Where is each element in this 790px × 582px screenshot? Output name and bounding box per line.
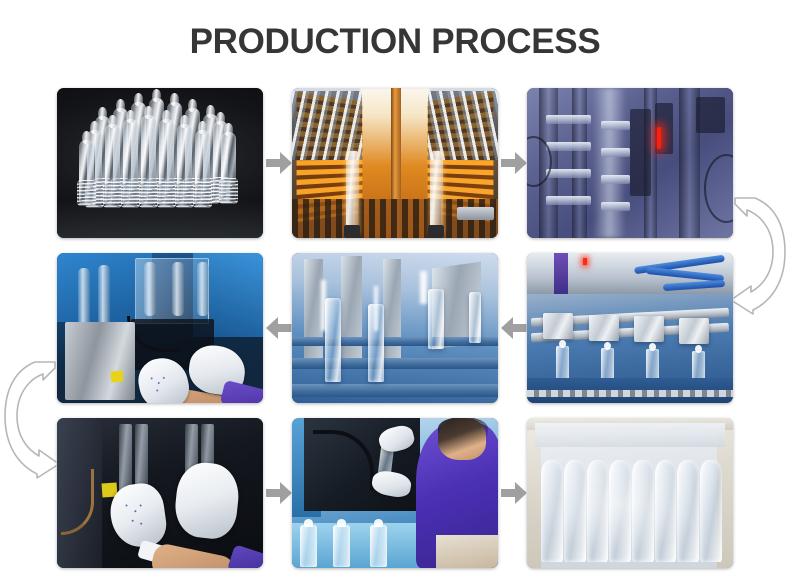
process-step-4[interactable] — [57, 253, 263, 403]
step-1-card[interactable] — [57, 88, 263, 238]
step-8-card[interactable] — [292, 418, 498, 568]
blow-molding-operator-photo — [57, 253, 263, 403]
conveyor-strip — [527, 390, 733, 397]
bottles-conveyor-photo — [292, 253, 498, 403]
red-status-led — [583, 258, 587, 265]
arrow-step5-to-step4 — [266, 317, 292, 339]
machine-arm — [457, 207, 494, 221]
pet-preforms-photo — [57, 88, 263, 238]
step-6-card[interactable] — [527, 253, 733, 403]
step-7-card[interactable] — [57, 418, 263, 568]
arrow-step1-to-step2 — [266, 152, 292, 174]
specular-sheen — [593, 88, 626, 238]
step-9-card[interactable] — [527, 418, 733, 568]
arrow-step2-to-step3 — [501, 152, 527, 174]
heated-preform-b — [430, 151, 443, 235]
arrow-step8-to-step9 — [501, 482, 527, 504]
operator-sleeve — [227, 544, 263, 568]
step-4-card[interactable] — [57, 253, 263, 403]
operator-glove-right — [173, 460, 242, 541]
preform-grip-b — [428, 225, 444, 238]
bottle-inspection-photo — [292, 418, 498, 568]
step-2-card[interactable] — [292, 88, 498, 238]
process-step-9[interactable] — [527, 418, 733, 568]
transfer-clamps-photo — [527, 253, 733, 403]
step-3-card[interactable] — [527, 88, 733, 238]
process-step-2[interactable] — [292, 88, 498, 238]
operator-sleeve — [220, 380, 263, 403]
production-process-infographic: PRODUCTION PROCESS — [0, 0, 790, 582]
warning-label — [110, 370, 123, 382]
infrared-heating-photo — [292, 88, 498, 238]
packing-carton — [436, 535, 498, 568]
process-step-5[interactable] — [292, 253, 498, 403]
wrap-sheen — [527, 418, 733, 568]
process-step-grid — [57, 88, 733, 568]
arrow-step6-to-step5 — [501, 317, 527, 339]
rod-bank-left — [292, 91, 362, 160]
process-step-6[interactable] — [527, 253, 733, 403]
rod-bank-right — [428, 91, 498, 160]
worker-head — [438, 418, 485, 460]
packed-bottles-photo — [527, 418, 733, 568]
violet-column — [554, 253, 568, 294]
manual-handling-photo — [57, 418, 263, 568]
mold-station-photo — [527, 88, 733, 238]
process-step-8[interactable] — [292, 418, 498, 568]
red-indicator-led — [657, 127, 661, 149]
page-title: PRODUCTION PROCESS — [0, 22, 790, 62]
step-5-card[interactable] — [292, 253, 498, 403]
arrow-step7-to-step8 — [266, 482, 292, 504]
preform-grip-a — [344, 225, 360, 238]
mold-metal-block — [65, 322, 135, 400]
process-step-3[interactable] — [527, 88, 733, 238]
operator-forearm — [149, 542, 236, 568]
process-step-7[interactable] — [57, 418, 263, 568]
heated-preform-a — [346, 151, 359, 235]
process-step-1[interactable] — [57, 88, 263, 238]
